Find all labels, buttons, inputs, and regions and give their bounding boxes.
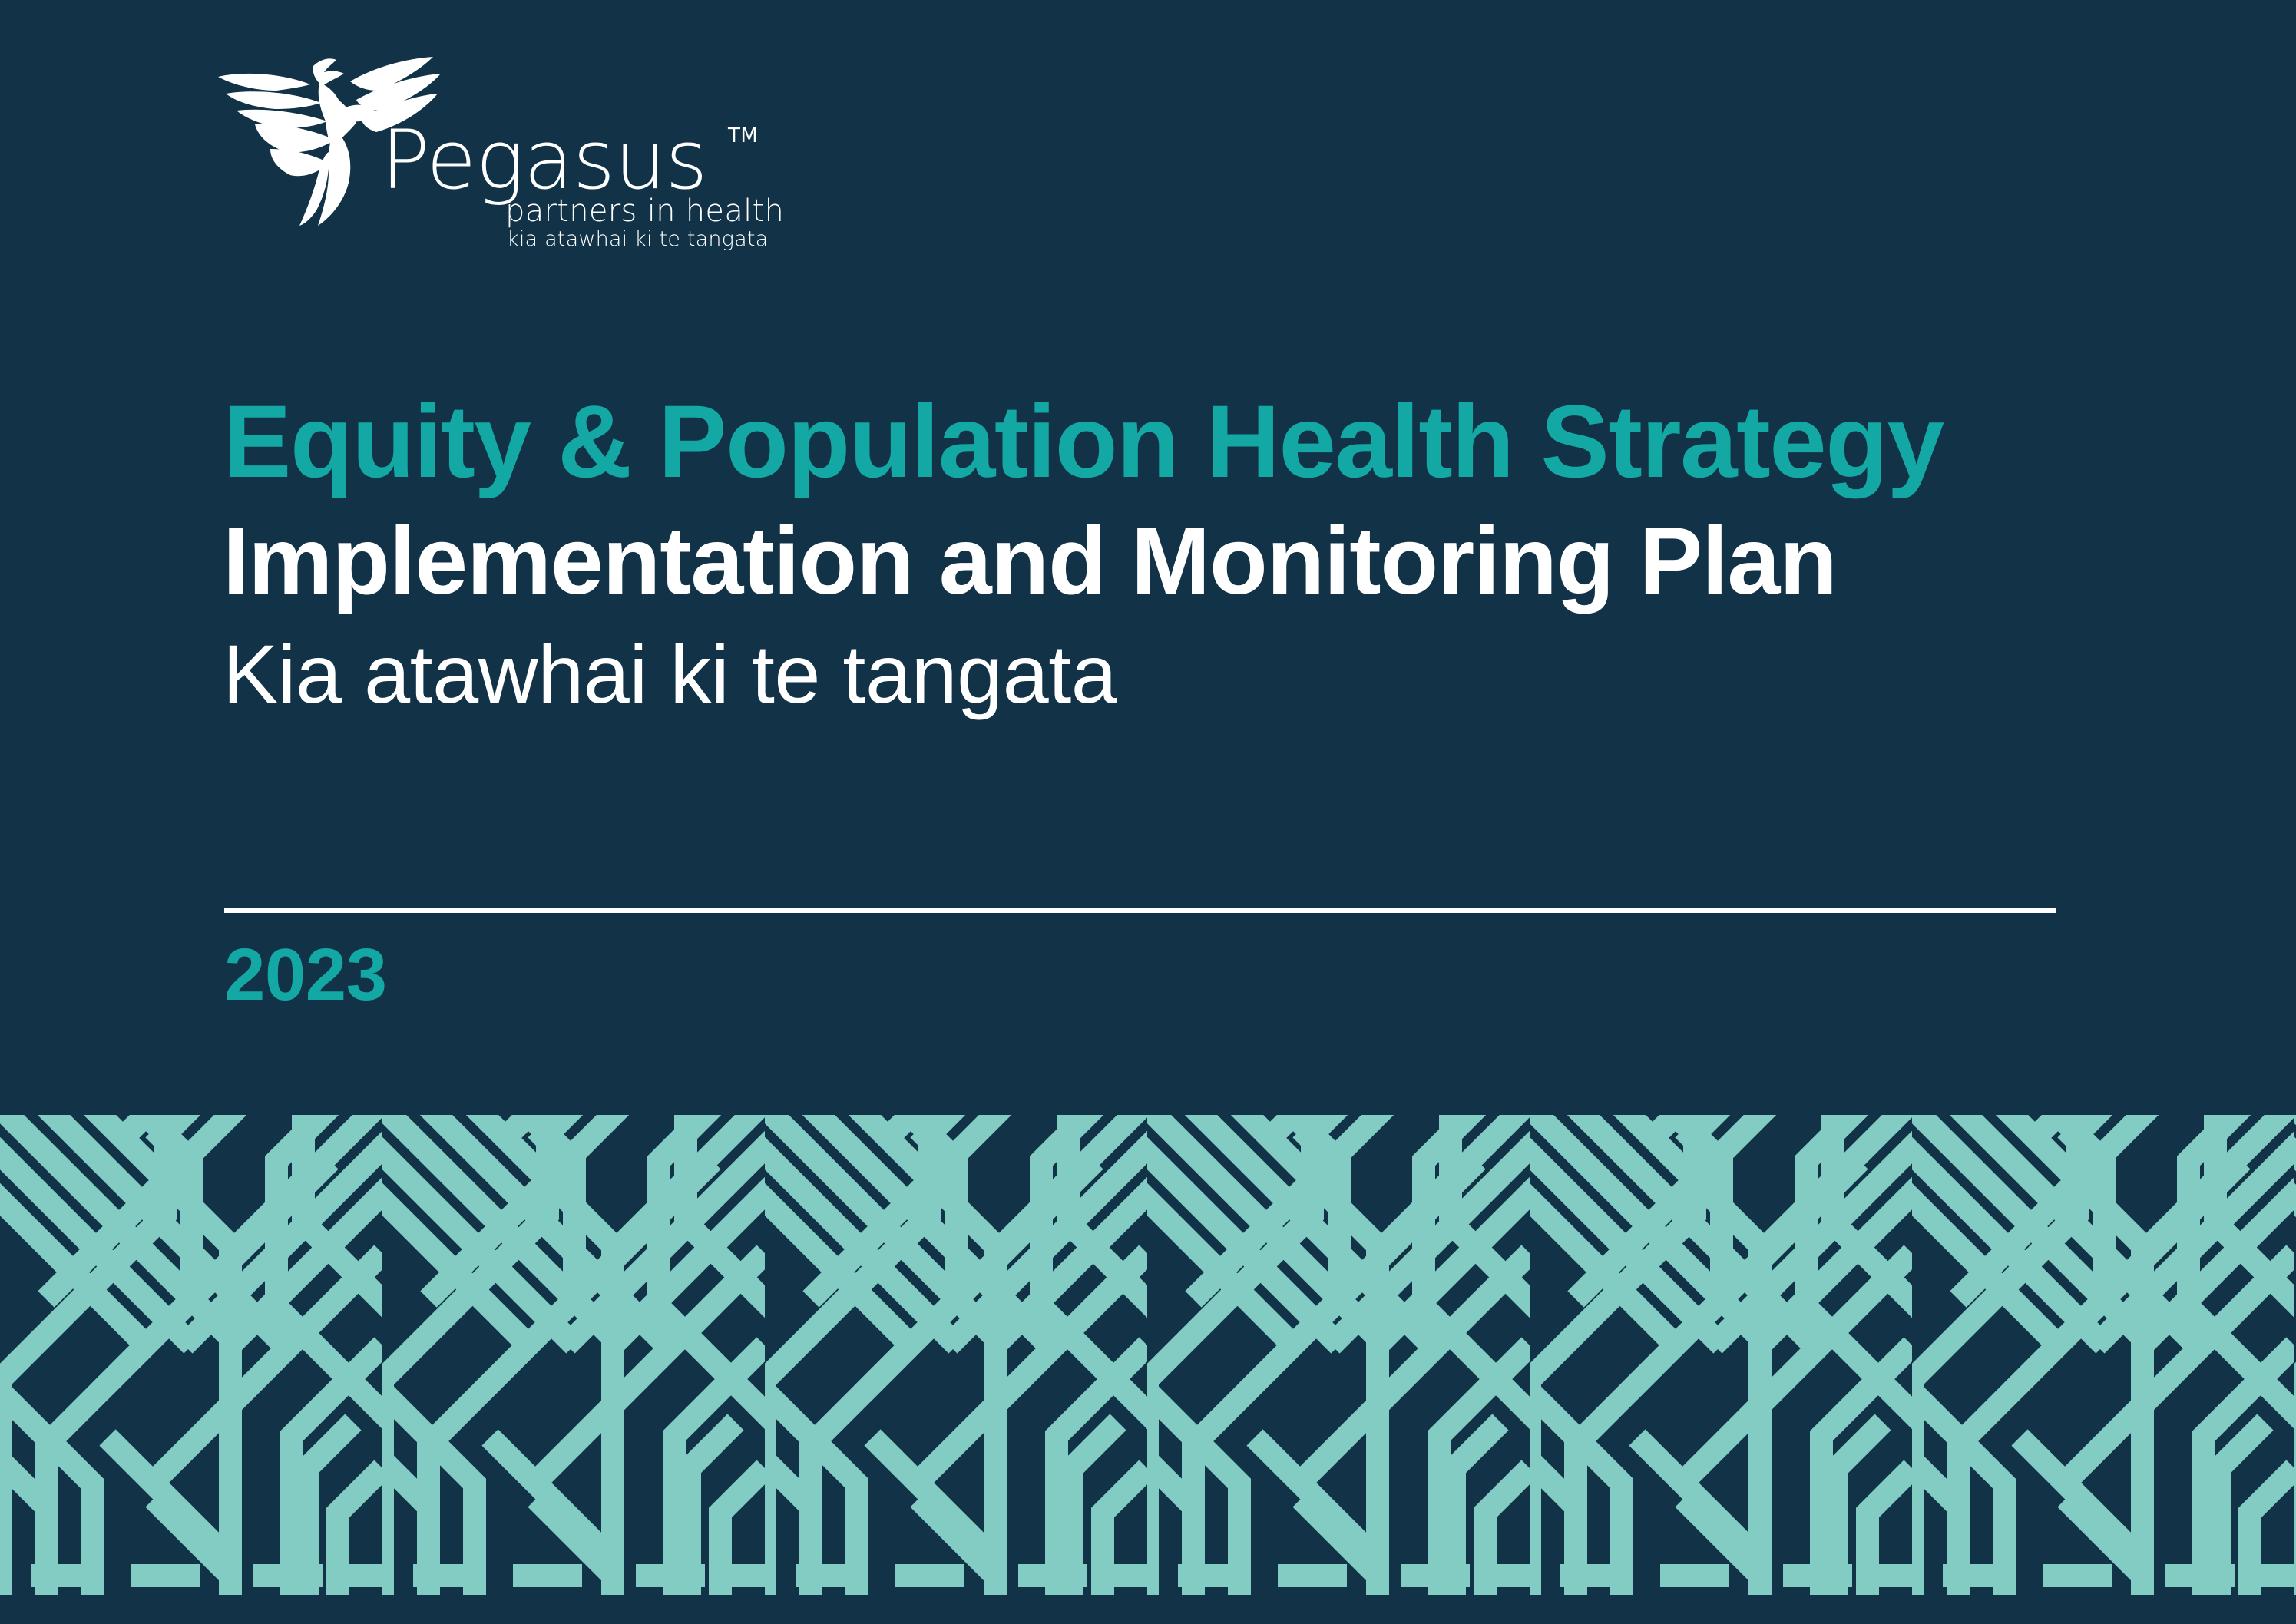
divider-rule — [224, 908, 2056, 913]
cover-page: Pegasus TM partners in health kia atawha… — [0, 0, 2296, 1624]
logo-wordmark-text: Pegasus — [381, 120, 707, 201]
page-subtitle: Implementation and Monitoring Plan — [223, 511, 2081, 614]
publication-year: 2023 — [224, 931, 387, 1019]
title-block: Equity & Population Health Strategy Impl… — [223, 388, 2081, 720]
kowhaiwhai-chevron-pattern — [0, 1115, 2296, 1595]
page-subtitle-maori: Kia atawhai ki te tangata — [223, 629, 2081, 720]
logo-tagline-en: partners in health — [505, 193, 784, 229]
trademark-symbol: TM — [728, 124, 758, 147]
logo-tagline-mi: kia atawhai ki te tangata — [507, 227, 768, 251]
page-title: Equity & Population Health Strategy — [223, 388, 2081, 497]
pegasus-logo: Pegasus TM partners in health kia atawha… — [213, 37, 766, 236]
logo-wordmark: Pegasus TM partners in health kia atawha… — [381, 120, 765, 239]
